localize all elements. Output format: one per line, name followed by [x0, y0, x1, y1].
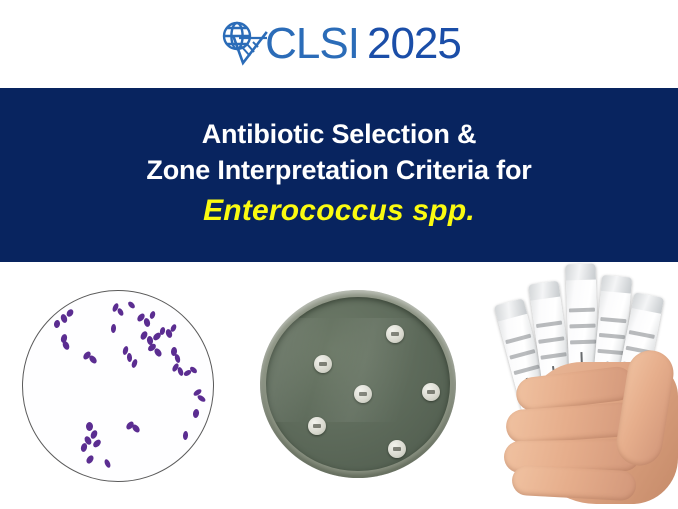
organism-name: Enterococcus spp.	[203, 190, 475, 232]
title-line-2: Zone Interpretation Criteria for	[146, 152, 531, 188]
coccus-cell	[111, 324, 117, 333]
coccus-cell	[88, 354, 98, 365]
cartridge-cap	[528, 281, 560, 301]
antibiotic-disk	[308, 417, 326, 435]
cartridge-label	[536, 320, 562, 328]
coccus-cell	[89, 429, 98, 440]
cartridge-label	[597, 349, 623, 355]
little-finger	[511, 465, 636, 501]
coccus-cell	[127, 300, 136, 309]
coccus-cell	[174, 354, 181, 364]
coccus-cell	[61, 340, 70, 351]
coccus-cell	[116, 307, 124, 316]
cartridge-cap	[601, 275, 632, 294]
brand-header: CLSI2025	[0, 0, 678, 88]
cartridge-cap	[632, 292, 665, 313]
title-line-1: Antibiotic Selection &	[202, 116, 477, 152]
brand-year: 2025	[367, 19, 461, 68]
cartridge-label	[513, 364, 539, 375]
coccus-cell	[85, 454, 95, 465]
cartridge-label	[570, 340, 596, 345]
slide: CLSI2025 Antibiotic Selection & Zone Int…	[0, 0, 678, 509]
antibiotic-disk	[354, 385, 372, 403]
coccus-cell	[86, 422, 93, 431]
coccus-cell	[143, 317, 151, 327]
brand-name: CLSI	[265, 19, 359, 68]
coccus-cell	[149, 310, 156, 319]
coccus-cell	[192, 409, 199, 419]
cartridge-label	[629, 330, 655, 339]
coccus-cell	[92, 438, 103, 449]
microscope-field	[22, 290, 214, 482]
cartridge-cap	[565, 264, 596, 281]
coccus-cell	[196, 394, 206, 403]
coccus-cell	[53, 320, 60, 329]
mueller-hinton-agar-plate	[260, 290, 456, 478]
gram-stain-micrograph	[22, 290, 214, 482]
cartridge-label	[505, 334, 531, 345]
cartridge-label	[538, 336, 564, 344]
cartridge-label	[600, 317, 626, 323]
image-strip	[0, 262, 678, 509]
antibiotic-disk	[314, 355, 332, 373]
cartridge-label	[540, 352, 566, 360]
antibiotic-disk	[388, 440, 406, 458]
coccus-cell	[183, 431, 189, 440]
coccus-cell	[80, 442, 88, 452]
hand-holding-disk-cartridges	[482, 254, 678, 509]
title-banner: Antibiotic Selection & Zone Interpretati…	[0, 88, 678, 262]
brand-wordmark: CLSI2025	[265, 22, 461, 66]
cartridge-label	[569, 324, 595, 329]
cartridge-label	[569, 308, 595, 313]
cartridge-cap	[494, 298, 527, 321]
coccus-cell	[153, 347, 163, 358]
antibiotic-disk	[422, 383, 440, 401]
cartridge-label	[599, 333, 625, 339]
coccus-cell	[103, 458, 111, 468]
agar-surface	[266, 297, 450, 471]
clsi-globe-logo-icon	[217, 18, 269, 70]
cartridge-label	[509, 349, 535, 360]
coccus-cell	[170, 323, 178, 332]
antibiotic-disk	[386, 325, 404, 343]
coccus-cell	[131, 423, 141, 434]
